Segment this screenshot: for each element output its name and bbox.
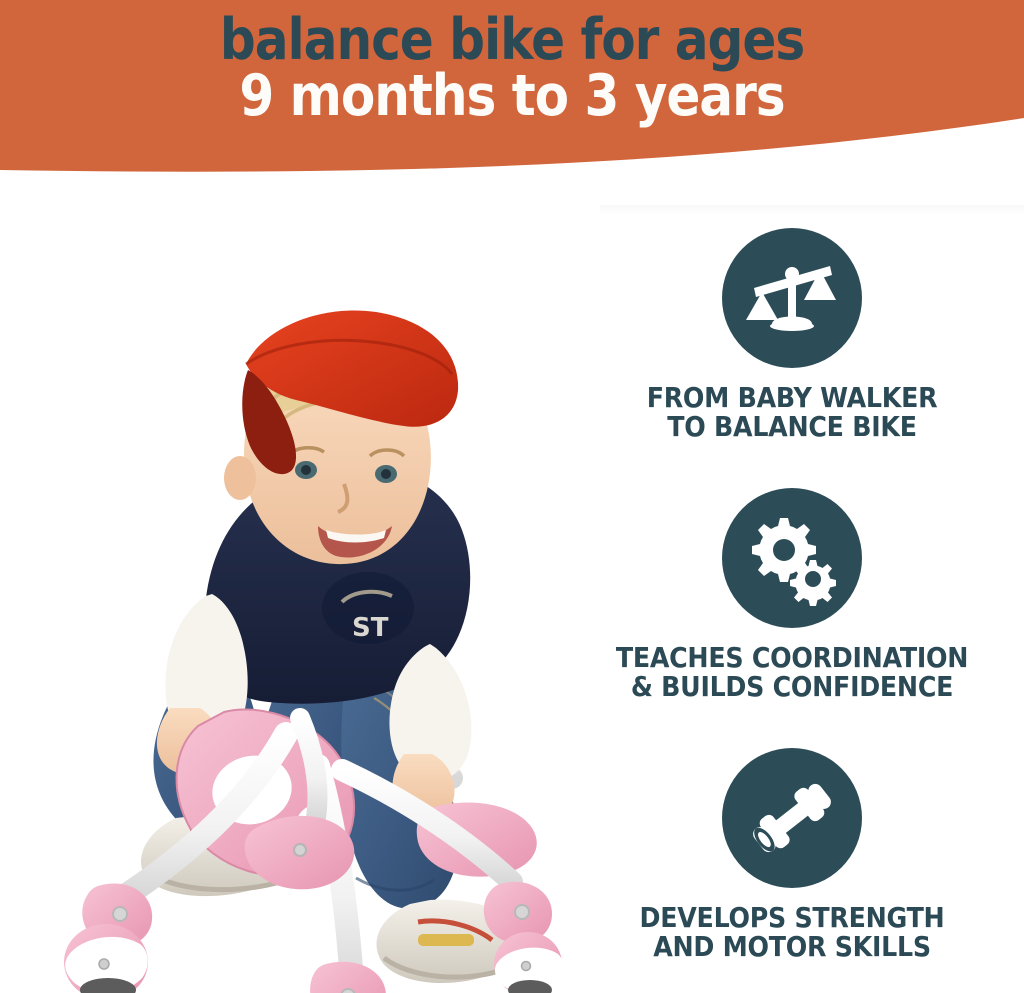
feature-label-line2: AND MOTOR SKILLS	[579, 933, 1006, 962]
feature-item-strength: DEVELOPS STRENGTH AND MOTOR SKILLS	[560, 748, 1024, 962]
gears-icon	[722, 488, 862, 628]
dumbbell-glyph	[744, 770, 840, 866]
shirt-graphic-text: ST	[352, 613, 389, 643]
feature-label-line1: DEVELOPS STRENGTH	[579, 904, 1006, 933]
feature-label-line2: TO BALANCE BIKE	[579, 413, 1006, 442]
dumbbell-icon	[722, 748, 862, 888]
feature-item-balance: FROM BABY WALKER TO BALANCE BIKE	[560, 228, 1024, 442]
child-ear	[224, 456, 256, 500]
balance-scale-glyph	[744, 250, 840, 346]
headline-line-1: balance bike for ages	[61, 14, 962, 67]
feature-label-balance: FROM BABY WALKER TO BALANCE BIKE	[579, 384, 1006, 442]
gears-glyph	[744, 510, 840, 606]
feature-label-line1: TEACHES COORDINATION	[579, 644, 1006, 673]
product-photo: ST	[0, 178, 600, 993]
feature-list: FROM BABY WALKER TO BALANCE BIKE TEACHES…	[560, 228, 1024, 993]
feature-label-line1: FROM BABY WALKER	[579, 384, 1006, 413]
banner-headline: balance bike for ages 9 months to 3 year…	[0, 14, 1024, 123]
feature-label-strength: DEVELOPS STRENGTH AND MOTOR SKILLS	[579, 904, 1006, 962]
balance-scale-icon	[722, 228, 862, 368]
child-on-balance-bike-illustration: ST	[0, 178, 600, 993]
headline-line-2: 9 months to 3 years	[61, 70, 962, 123]
feature-item-coordination: TEACHES COORDINATION & BUILDS CONFIDENCE	[560, 488, 1024, 702]
feature-label-coordination: TEACHES COORDINATION & BUILDS CONFIDENCE	[579, 644, 1006, 702]
product-infographic: balance bike for ages 9 months to 3 year…	[0, 0, 1024, 993]
feature-label-line2: & BUILDS CONFIDENCE	[579, 673, 1006, 702]
